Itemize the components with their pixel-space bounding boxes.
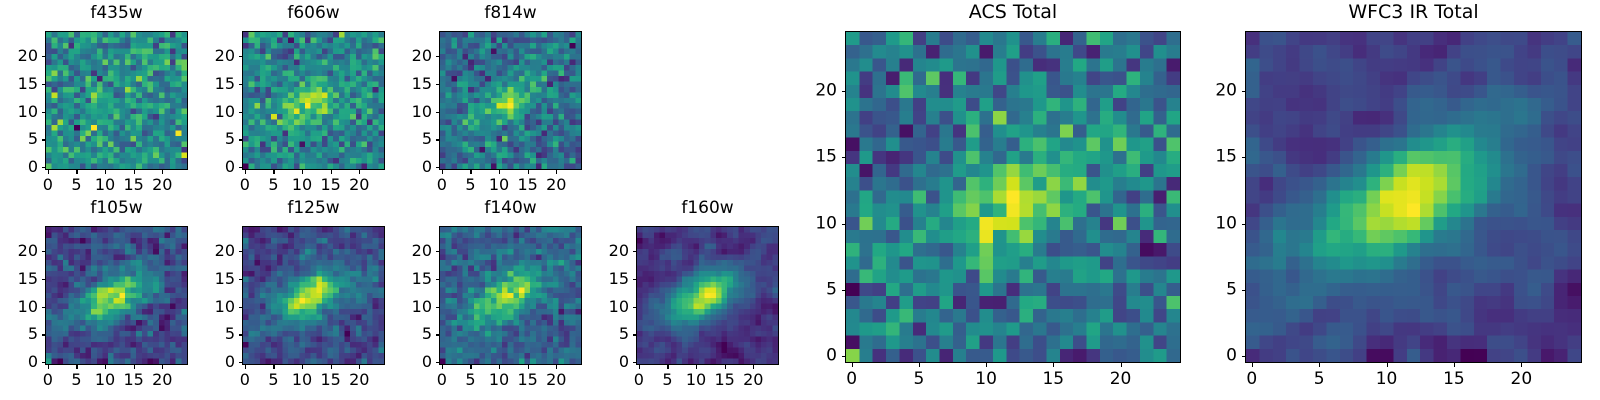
ytick-acs_total-5 [842,290,846,291]
ytick-f814w-10 [436,112,440,113]
xticklabel-f435w-15: 15 [123,177,143,193]
yticklabel-f160w-15: 15 [596,271,629,287]
yticklabel-f814w-5: 5 [399,131,432,147]
xtick-f606w-5 [273,170,274,174]
ytick-f814w-0 [436,167,440,168]
ytick-f140w-5 [436,334,440,335]
yticklabel-f140w-5: 5 [399,326,432,342]
yticklabel-wfc3_ir_total-20: 20 [1205,82,1237,99]
ytick-f814w-15 [436,84,440,85]
xtick-f435w-10 [105,170,106,174]
xticklabel-f606w-20: 20 [349,177,369,193]
xticklabel-wfc3_ir_total-5: 5 [1314,371,1325,388]
yticklabel-wfc3_ir_total-10: 10 [1205,215,1237,232]
xticklabel-f160w-10: 10 [686,372,706,388]
ytick-f140w-20 [436,251,440,252]
xticklabel-f814w-0: 0 [437,177,447,193]
ytick-wfc3_ir_total-0 [1242,356,1246,357]
panel-acs_total: ACS Total0510152005101520 [805,3,1201,393]
yticklabel-f160w-0: 0 [596,354,629,370]
heatmap-wfc3_ir_total [1245,31,1582,363]
ytick-f125w-0 [239,362,243,363]
xticklabel-wfc3_ir_total-10: 10 [1376,371,1398,388]
xtick-f140w-5 [470,365,471,369]
xtick-f140w-10 [499,365,500,369]
heatmap-canvas-wfc3_ir_total [1246,32,1581,362]
yticklabel-f105w-15: 15 [5,271,38,287]
xtick-f606w-20 [359,170,360,174]
heatmap-f160w [636,226,779,365]
xtick-f814w-10 [499,170,500,174]
panel-title-f814w: f814w [439,5,582,22]
yticklabel-acs_total-10: 10 [805,215,837,232]
xtick-acs_total-0 [852,363,853,367]
ytick-acs_total-15 [842,157,846,158]
xticklabel-f814w-10: 10 [489,177,509,193]
xtick-f814w-15 [528,170,529,174]
ytick-f435w-15 [42,84,46,85]
xtick-f105w-5 [76,365,77,369]
panel-wfc3_ir_total: WFC3 IR Total0510152005101520 [1205,3,1600,393]
ytick-f125w-20 [239,251,243,252]
heatmap-f435w [45,31,188,170]
yticklabel-f435w-10: 10 [5,104,38,120]
xticklabel-f814w-15: 15 [517,177,537,193]
xticklabel-f160w-20: 20 [743,372,763,388]
yticklabel-f160w-10: 10 [596,299,629,315]
yticklabel-wfc3_ir_total-5: 5 [1205,281,1237,298]
yticklabel-f606w-10: 10 [202,104,235,120]
xtick-f125w-5 [273,365,274,369]
yticklabel-f435w-5: 5 [5,131,38,147]
xtick-f606w-10 [302,170,303,174]
xticklabel-f606w-10: 10 [292,177,312,193]
xtick-f140w-20 [556,365,557,369]
panel-title-f606w: f606w [242,5,385,22]
panel-f435w: f435w0510152005101520 [5,5,208,200]
panel-title-f140w: f140w [439,200,582,217]
ytick-f105w-5 [42,334,46,335]
ytick-f160w-5 [633,334,637,335]
ytick-wfc3_ir_total-5 [1242,290,1246,291]
heatmap-canvas-f435w [46,32,187,169]
heatmap-f105w [45,226,188,365]
xtick-f435w-20 [162,170,163,174]
xtick-f814w-5 [470,170,471,174]
xticklabel-f435w-5: 5 [71,177,81,193]
panel-title-f435w: f435w [45,5,188,22]
yticklabel-f160w-20: 20 [596,243,629,259]
yticklabel-wfc3_ir_total-0: 0 [1205,348,1237,365]
yticklabel-acs_total-20: 20 [805,82,837,99]
ytick-f606w-10 [239,112,243,113]
ytick-acs_total-10 [842,224,846,225]
xtick-f125w-0 [245,365,246,369]
yticklabel-f160w-5: 5 [596,326,629,342]
xtick-f160w-10 [696,365,697,369]
yticklabel-f125w-0: 0 [202,354,235,370]
xticklabel-f160w-5: 5 [662,372,672,388]
xtick-f814w-0 [442,170,443,174]
xticklabel-f435w-20: 20 [152,177,172,193]
xticklabel-f160w-0: 0 [634,372,644,388]
panel-title-f125w: f125w [242,200,385,217]
xtick-acs_total-15 [1053,363,1054,367]
yticklabel-f814w-20: 20 [399,48,432,64]
xtick-wfc3_ir_total-0 [1252,363,1253,367]
yticklabel-f606w-20: 20 [202,48,235,64]
xtick-f125w-20 [359,365,360,369]
ytick-wfc3_ir_total-20 [1242,91,1246,92]
xtick-wfc3_ir_total-10 [1387,363,1388,367]
xticklabel-f105w-20: 20 [152,372,172,388]
xtick-f606w-0 [245,170,246,174]
xticklabel-f606w-15: 15 [320,177,340,193]
yticklabel-f125w-20: 20 [202,243,235,259]
ytick-f160w-20 [633,251,637,252]
yticklabel-acs_total-15: 15 [805,149,837,166]
panel-title-f160w: f160w [636,200,779,217]
xtick-f814w-20 [556,170,557,174]
xticklabel-f125w-5: 5 [268,372,278,388]
xticklabel-f125w-20: 20 [349,372,369,388]
yticklabel-f105w-5: 5 [5,326,38,342]
xticklabel-wfc3_ir_total-15: 15 [1443,371,1465,388]
panel-f125w: f125w0510152005101520 [202,200,405,395]
yticklabel-f140w-0: 0 [399,354,432,370]
xtick-acs_total-5 [919,363,920,367]
panel-f814w: f814w0510152005101520 [399,5,602,200]
xticklabel-f606w-0: 0 [240,177,250,193]
ytick-f140w-10 [436,307,440,308]
heatmap-f140w [439,226,582,365]
xticklabel-f105w-5: 5 [71,372,81,388]
panel-title-acs_total: ACS Total [845,3,1181,22]
ytick-f435w-20 [42,56,46,57]
ytick-f105w-20 [42,251,46,252]
xtick-wfc3_ir_total-5 [1319,363,1320,367]
yticklabel-f105w-10: 10 [5,299,38,315]
yticklabel-f125w-5: 5 [202,326,235,342]
xtick-f105w-10 [105,365,106,369]
ytick-f435w-10 [42,112,46,113]
xticklabel-wfc3_ir_total-0: 0 [1246,371,1257,388]
heatmap-canvas-f140w [440,227,581,364]
xticklabel-f606w-5: 5 [268,177,278,193]
yticklabel-f140w-10: 10 [399,299,432,315]
ytick-f160w-0 [633,362,637,363]
ytick-f435w-5 [42,139,46,140]
yticklabel-f435w-15: 15 [5,76,38,92]
xtick-f105w-0 [48,365,49,369]
yticklabel-f105w-0: 0 [5,354,38,370]
figure-canvas: f435w0510152005101520f606w05101520051015… [0,0,1600,400]
xtick-f125w-15 [331,365,332,369]
ytick-f125w-15 [239,279,243,280]
xticklabel-acs_total-10: 10 [975,371,997,388]
xtick-f160w-5 [667,365,668,369]
xtick-wfc3_ir_total-20 [1521,363,1522,367]
xticklabel-f105w-15: 15 [123,372,143,388]
xtick-f160w-0 [639,365,640,369]
yticklabel-f435w-0: 0 [5,159,38,175]
yticklabel-f125w-15: 15 [202,271,235,287]
xticklabel-acs_total-20: 20 [1110,371,1132,388]
xtick-f435w-15 [134,170,135,174]
xticklabel-f105w-10: 10 [95,372,115,388]
panel-f140w: f140w0510152005101520 [399,200,602,395]
ytick-f606w-0 [239,167,243,168]
yticklabel-f435w-20: 20 [5,48,38,64]
ytick-f606w-5 [239,139,243,140]
xticklabel-f814w-20: 20 [546,177,566,193]
ytick-f105w-10 [42,307,46,308]
heatmap-canvas-f125w [243,227,384,364]
xticklabel-f160w-15: 15 [714,372,734,388]
xtick-f105w-15 [134,365,135,369]
xticklabel-f140w-20: 20 [546,372,566,388]
yticklabel-f140w-15: 15 [399,271,432,287]
heatmap-canvas-f105w [46,227,187,364]
ytick-f160w-15 [633,279,637,280]
xticklabel-f140w-0: 0 [437,372,447,388]
ytick-f606w-20 [239,56,243,57]
xticklabel-acs_total-5: 5 [913,371,924,388]
xtick-acs_total-20 [1121,363,1122,367]
xticklabel-acs_total-0: 0 [846,371,857,388]
yticklabel-f606w-0: 0 [202,159,235,175]
panel-title-wfc3_ir_total: WFC3 IR Total [1245,3,1582,22]
xtick-f435w-5 [76,170,77,174]
xticklabel-f105w-0: 0 [43,372,53,388]
ytick-f814w-20 [436,56,440,57]
xticklabel-acs_total-15: 15 [1042,371,1064,388]
xtick-f125w-10 [302,365,303,369]
xtick-f606w-15 [331,170,332,174]
panel-f160w: f160w0510152005101520 [596,200,799,395]
xtick-f140w-15 [528,365,529,369]
xtick-acs_total-10 [986,363,987,367]
xticklabel-f814w-5: 5 [465,177,475,193]
xticklabel-f140w-10: 10 [489,372,509,388]
panel-f105w: f105w0510152005101520 [5,200,208,395]
xticklabel-f125w-0: 0 [240,372,250,388]
heatmap-f606w [242,31,385,170]
ytick-wfc3_ir_total-10 [1242,224,1246,225]
yticklabel-f814w-15: 15 [399,76,432,92]
xticklabel-f125w-10: 10 [292,372,312,388]
xticklabel-f125w-15: 15 [320,372,340,388]
ytick-f105w-0 [42,362,46,363]
ytick-f105w-15 [42,279,46,280]
heatmap-canvas-f606w [243,32,384,169]
xtick-wfc3_ir_total-15 [1454,363,1455,367]
xticklabel-f435w-0: 0 [43,177,53,193]
yticklabel-f814w-10: 10 [399,104,432,120]
ytick-acs_total-0 [842,356,846,357]
heatmap-canvas-f160w [637,227,778,364]
xtick-f435w-0 [48,170,49,174]
ytick-f435w-0 [42,167,46,168]
yticklabel-f606w-15: 15 [202,76,235,92]
yticklabel-acs_total-5: 5 [805,281,837,298]
panel-f606w: f606w0510152005101520 [202,5,405,200]
ytick-f125w-10 [239,307,243,308]
xtick-f105w-20 [162,365,163,369]
xtick-f140w-0 [442,365,443,369]
yticklabel-wfc3_ir_total-15: 15 [1205,149,1237,166]
xtick-f160w-20 [753,365,754,369]
heatmap-canvas-f814w [440,32,581,169]
xticklabel-f140w-15: 15 [517,372,537,388]
ytick-f160w-10 [633,307,637,308]
xticklabel-wfc3_ir_total-20: 20 [1511,371,1533,388]
yticklabel-f105w-20: 20 [5,243,38,259]
ytick-wfc3_ir_total-15 [1242,157,1246,158]
ytick-f140w-0 [436,362,440,363]
heatmap-acs_total [845,31,1181,363]
xticklabel-f435w-10: 10 [95,177,115,193]
yticklabel-f140w-20: 20 [399,243,432,259]
yticklabel-f814w-0: 0 [399,159,432,175]
panel-title-f105w: f105w [45,200,188,217]
ytick-f140w-15 [436,279,440,280]
yticklabel-f125w-10: 10 [202,299,235,315]
heatmap-canvas-acs_total [846,32,1180,362]
yticklabel-f606w-5: 5 [202,131,235,147]
heatmap-f125w [242,226,385,365]
ytick-f606w-15 [239,84,243,85]
xticklabel-f140w-5: 5 [465,372,475,388]
ytick-f125w-5 [239,334,243,335]
xtick-f160w-15 [725,365,726,369]
heatmap-f814w [439,31,582,170]
ytick-acs_total-20 [842,91,846,92]
ytick-f814w-5 [436,139,440,140]
yticklabel-acs_total-0: 0 [805,348,837,365]
